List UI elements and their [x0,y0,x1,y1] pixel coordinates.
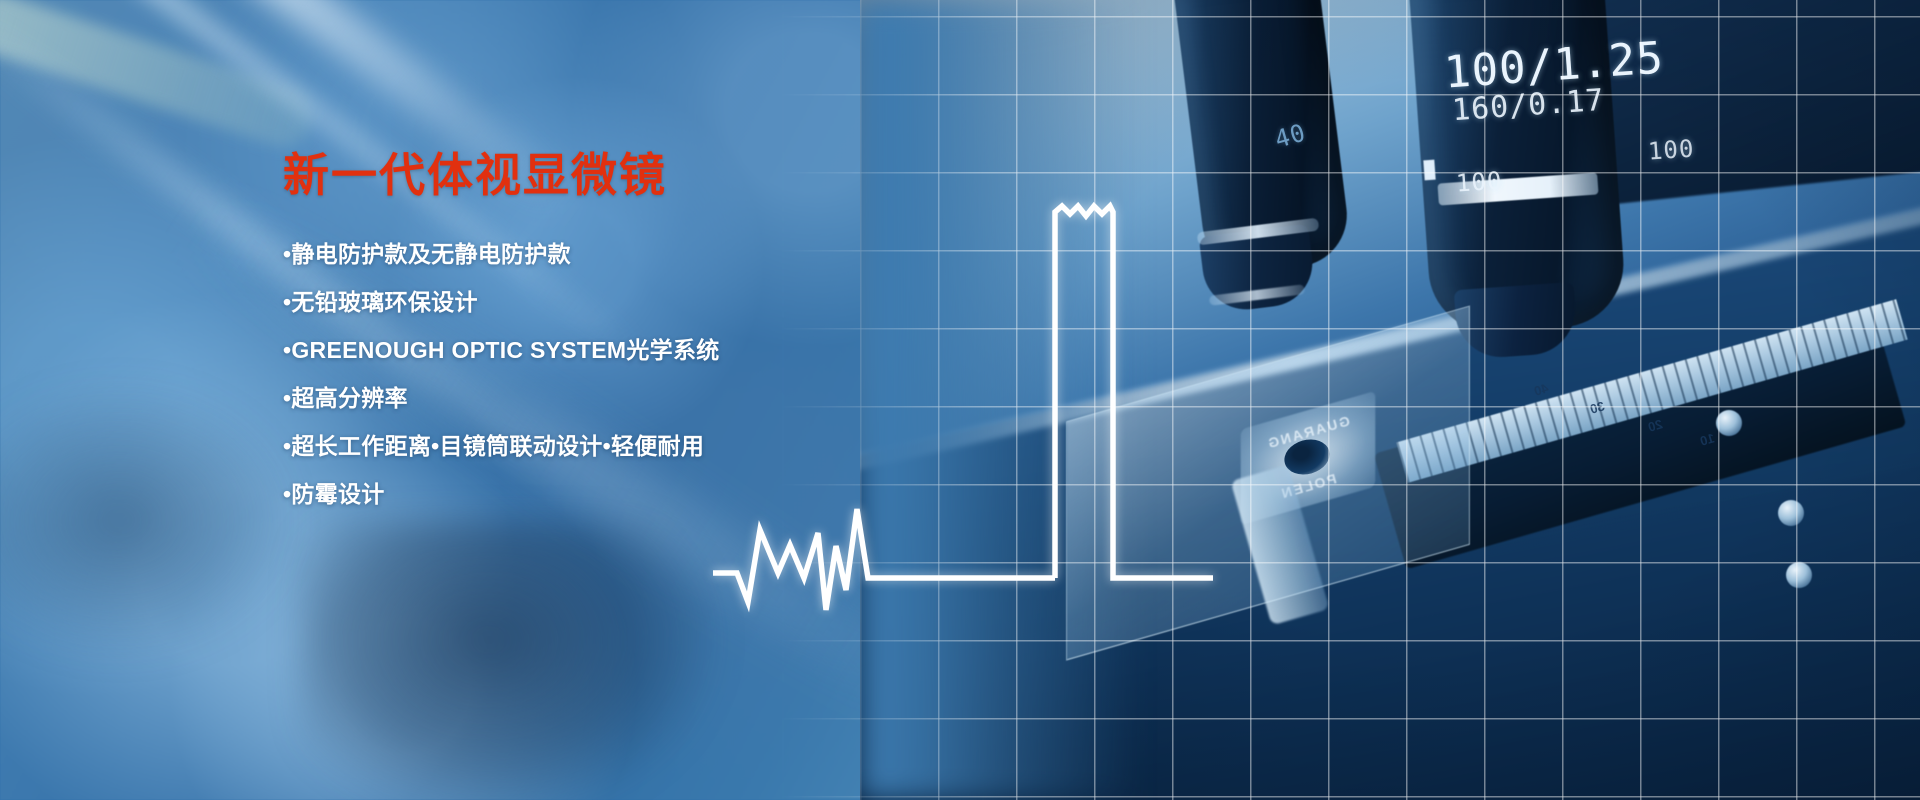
feature-item-5: •超长工作距离•目镜筒联动设计•轻便耐用 [283,435,903,458]
feature-item-6: •防霉设计 [283,483,903,506]
stage-screw-b [1778,500,1804,526]
background-dark-blob [300,520,720,800]
feature-list: •静电防护款及无静电防护款 •无铅玻璃环保设计 •GREENOUGH OPTIC… [283,243,903,506]
stage-screw-c [1786,562,1812,588]
objective-label-100: 100 [1455,166,1503,197]
stage-screw-a [1716,410,1742,436]
feature-item-2: •无铅玻璃环保设计 [283,291,903,314]
objective-label-100-far: 100 [1647,134,1695,165]
page-title: 新一代体视显微镜 [283,150,903,201]
background-dark-blob-left [0,380,300,660]
feature-item-1: •静电防护款及无静电防护款 [283,243,903,266]
objective-lens-100x-tick [1423,160,1435,181]
promo-banner: 10 20 30 40 GUARANG POLEN 100/1.25 160/0… [0,0,1920,800]
copy-block: 新一代体视显微镜 •静电防护款及无静电防护款 •无铅玻璃环保设计 •GREENO… [283,150,903,531]
feature-item-4: •超高分辨率 [283,387,903,410]
feature-item-3: •GREENOUGH OPTIC SYSTEM光学系统 [283,339,903,362]
